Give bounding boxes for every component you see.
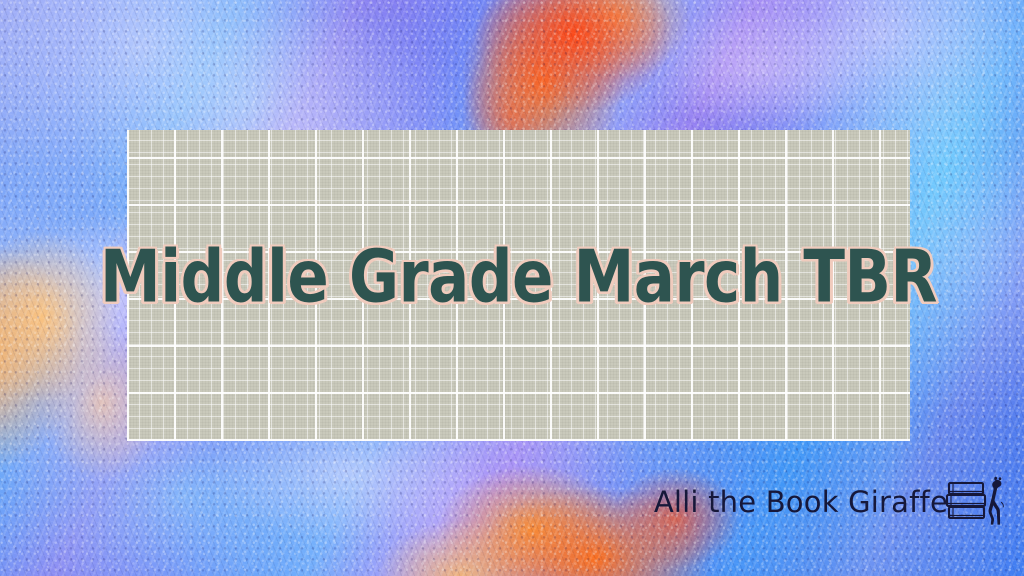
brand-watermark: Alli the Book Giraffe xyxy=(654,474,1008,530)
slide-canvas: Middle Grade March TBR Alli the Book Gir… xyxy=(0,0,1024,576)
stacked-books-and-giraffe-logo xyxy=(946,474,1008,530)
title-card-panel: Middle Grade March TBR xyxy=(127,130,910,441)
page-title: Middle Grade March TBR xyxy=(100,242,937,314)
brand-name-label: Alli the Book Giraffe xyxy=(654,485,948,519)
